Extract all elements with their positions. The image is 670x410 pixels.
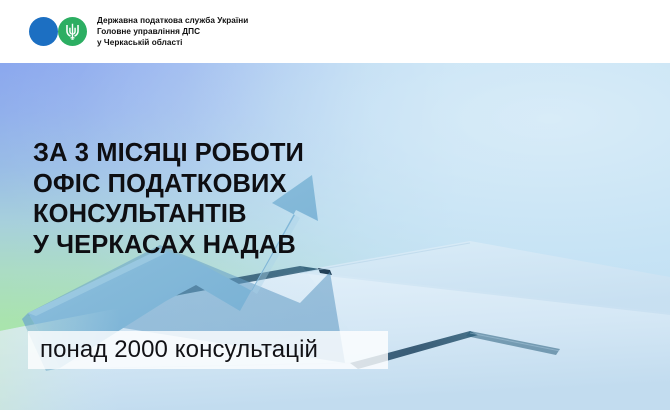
statistic-highlight-band: понад 2000 консультацій (28, 331, 388, 369)
ukraine-trident-icon (58, 17, 87, 46)
org-line-3: у Черкаській області (97, 37, 248, 48)
banner-header: Державна податкова служба України Головн… (0, 0, 670, 63)
page-title: ЗА 3 МІСЯЦІ РОБОТИ ОФІС ПОДАТКОВИХ КОНСУ… (33, 138, 304, 260)
logo-blue-circle-icon (29, 17, 58, 46)
org-line-1: Державна податкова служба України (97, 15, 248, 26)
promo-banner: Державна податкова служба України Головн… (0, 0, 670, 410)
org-line-2: Головне управління ДПС (97, 26, 248, 37)
organization-name: Державна податкова служба України Головн… (97, 15, 248, 49)
dps-logo (29, 17, 87, 46)
statistic-text: понад 2000 консультацій (28, 336, 318, 364)
